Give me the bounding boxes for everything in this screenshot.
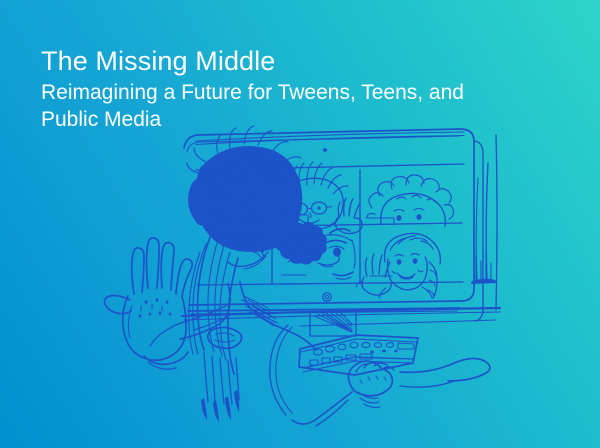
raised-open-hand <box>105 238 193 369</box>
waving-hand-tile1 <box>330 198 362 234</box>
desk-lamp <box>471 135 497 310</box>
participant-braid-waving <box>356 233 440 298</box>
slide-canvas: The Missing Middle Reimagining a Future … <box>0 0 600 448</box>
webcam-dot <box>323 148 327 151</box>
cable <box>270 325 292 415</box>
monitor-power-button <box>323 293 331 301</box>
page-subtitle: Reimagining a Future for Tweens, Teens, … <box>41 79 521 133</box>
title-block: The Missing Middle Reimagining a Future … <box>41 46 521 133</box>
tween-with-headphones <box>105 126 316 422</box>
waving-hand-tile4 <box>356 254 391 295</box>
page-title: The Missing Middle <box>41 46 521 76</box>
